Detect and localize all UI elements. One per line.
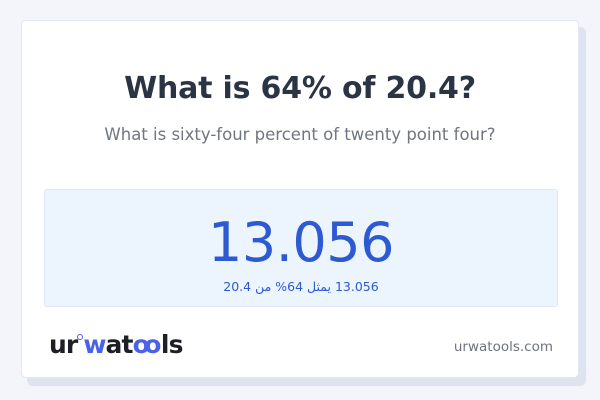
result-box: 13.056 13.056 يمثل 64% من 20.4	[44, 189, 558, 307]
result-value: 13.056	[45, 215, 557, 272]
logo-text-part-3: at	[106, 330, 133, 359]
logo-text-part-1: ur	[49, 330, 77, 359]
page-title: What is 64% of 20.4?	[22, 71, 578, 107]
logo-text-part-2: w	[83, 330, 105, 359]
page-root: What is 64% of 20.4? What is sixty-four …	[0, 0, 600, 400]
result-card: What is 64% of 20.4? What is sixty-four …	[21, 20, 579, 378]
page-subtitle: What is sixty-four percent of twenty poi…	[22, 124, 578, 145]
site-url-label: urwatools.com	[454, 341, 553, 355]
card-footer: urwatools urwatools.com	[22, 307, 578, 377]
brand-logo[interactable]: urwatools	[49, 332, 183, 357]
result-note-arabic: 13.056 يمثل 64% من 20.4	[45, 279, 557, 295]
logo-text-part-5: ls	[161, 330, 183, 359]
logo-goggles-icon: oo	[133, 330, 161, 359]
